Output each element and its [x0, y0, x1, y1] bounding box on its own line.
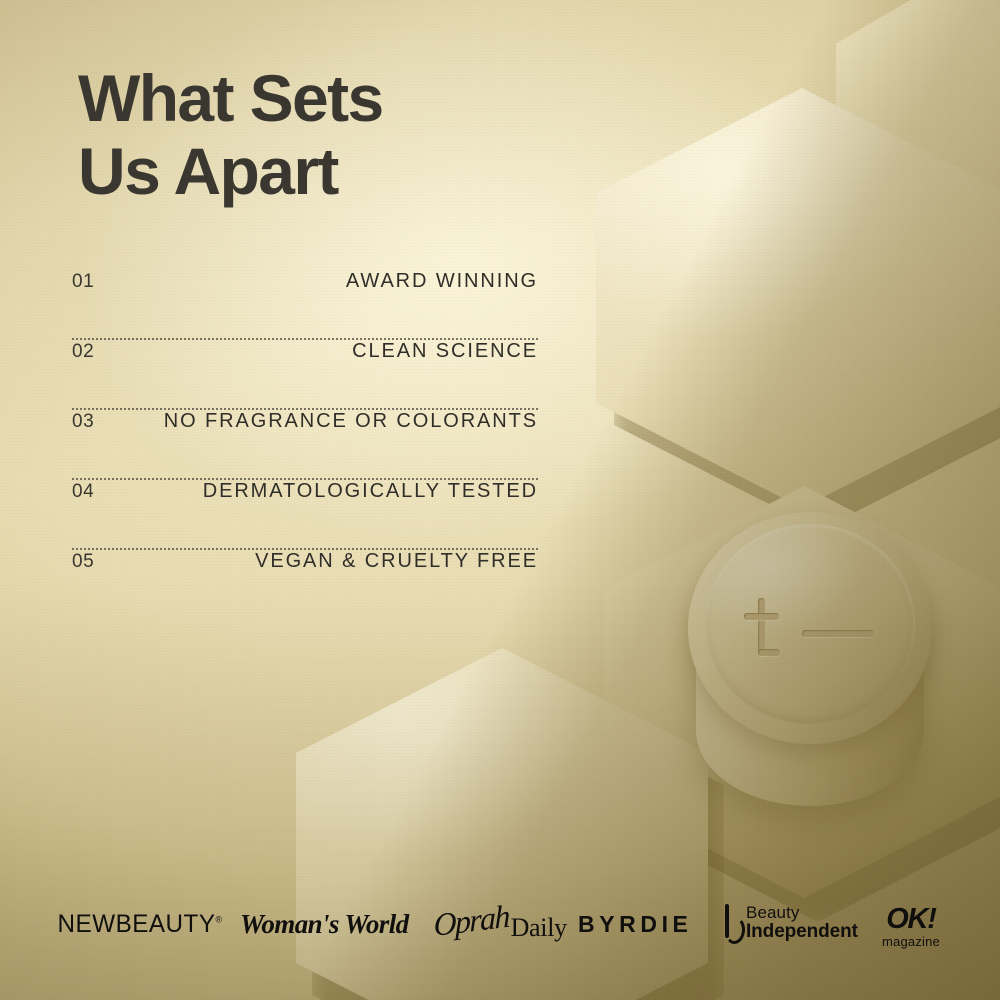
beauty-independent-line1: Beauty [746, 904, 858, 922]
daily-wordmark: Daily [511, 913, 567, 943]
feature-divider [72, 526, 538, 550]
feature-label: CLEAN SCIENCE [352, 340, 538, 363]
registered-mark-icon: ® [216, 915, 223, 925]
ok-wordmark: OK! [882, 905, 940, 934]
beauty-independent-b-mark-icon [722, 904, 739, 942]
press-logo-ok-magazine: OK! magazine [882, 905, 940, 948]
feature-row: 03 NO FRAGRANCE OR COLORANTS [72, 410, 538, 456]
feature-label: AWARD WINNING [346, 270, 538, 293]
feature-number: 03 [72, 411, 94, 433]
beauty-independent-wordmark: Beauty Independent [746, 904, 858, 941]
feature-row: 05 VEGAN & CRUELTY FREE [72, 550, 538, 596]
magazine-wordmark: magazine [882, 935, 940, 948]
press-logo-newbeauty: NEWBEAUTY® [58, 910, 223, 939]
feature-divider [72, 456, 538, 480]
feature-list: 01 AWARD WINNING 02 CLEAN SCIENCE 03 NO … [72, 270, 538, 596]
press-logo-womans-world: Woman's World [240, 909, 409, 940]
feature-number: 01 [72, 271, 94, 293]
promotional-graphic: What Sets Us Apart 01 AWARD WINNING 02 C… [0, 0, 1000, 1000]
feature-row: 01 AWARD WINNING [72, 270, 538, 316]
feature-divider [72, 386, 538, 410]
feature-label: NO FRAGRANCE OR COLORANTS [164, 410, 538, 433]
press-logo-strip: NEWBEAUTY® Woman's World Oprah Daily BYR… [0, 898, 1000, 960]
oprah-script-wordmark: Oprah [433, 898, 509, 944]
feature-divider [72, 316, 538, 340]
feature-label: VEGAN & CRUELTY FREE [255, 550, 538, 573]
beauty-independent-line2: Independent [746, 922, 858, 942]
feature-row: 04 DERMATOLOGICALLY TESTED [72, 480, 538, 526]
page-title: What Sets Us Apart [78, 62, 383, 207]
feature-label: DERMATOLOGICALLY TESTED [203, 480, 538, 503]
press-logo-oprah-daily: Oprah Daily [434, 907, 567, 944]
newbeauty-wordmark: NEWBEAUTY [58, 910, 216, 938]
press-logo-beauty-independent: Beauty Independent [722, 904, 858, 942]
feature-number: 04 [72, 481, 94, 503]
press-logo-byrdie: BYRDIE [578, 911, 693, 938]
feature-number: 02 [72, 341, 94, 363]
feature-number: 05 [72, 551, 94, 573]
feature-row: 02 CLEAN SCIENCE [72, 340, 538, 386]
